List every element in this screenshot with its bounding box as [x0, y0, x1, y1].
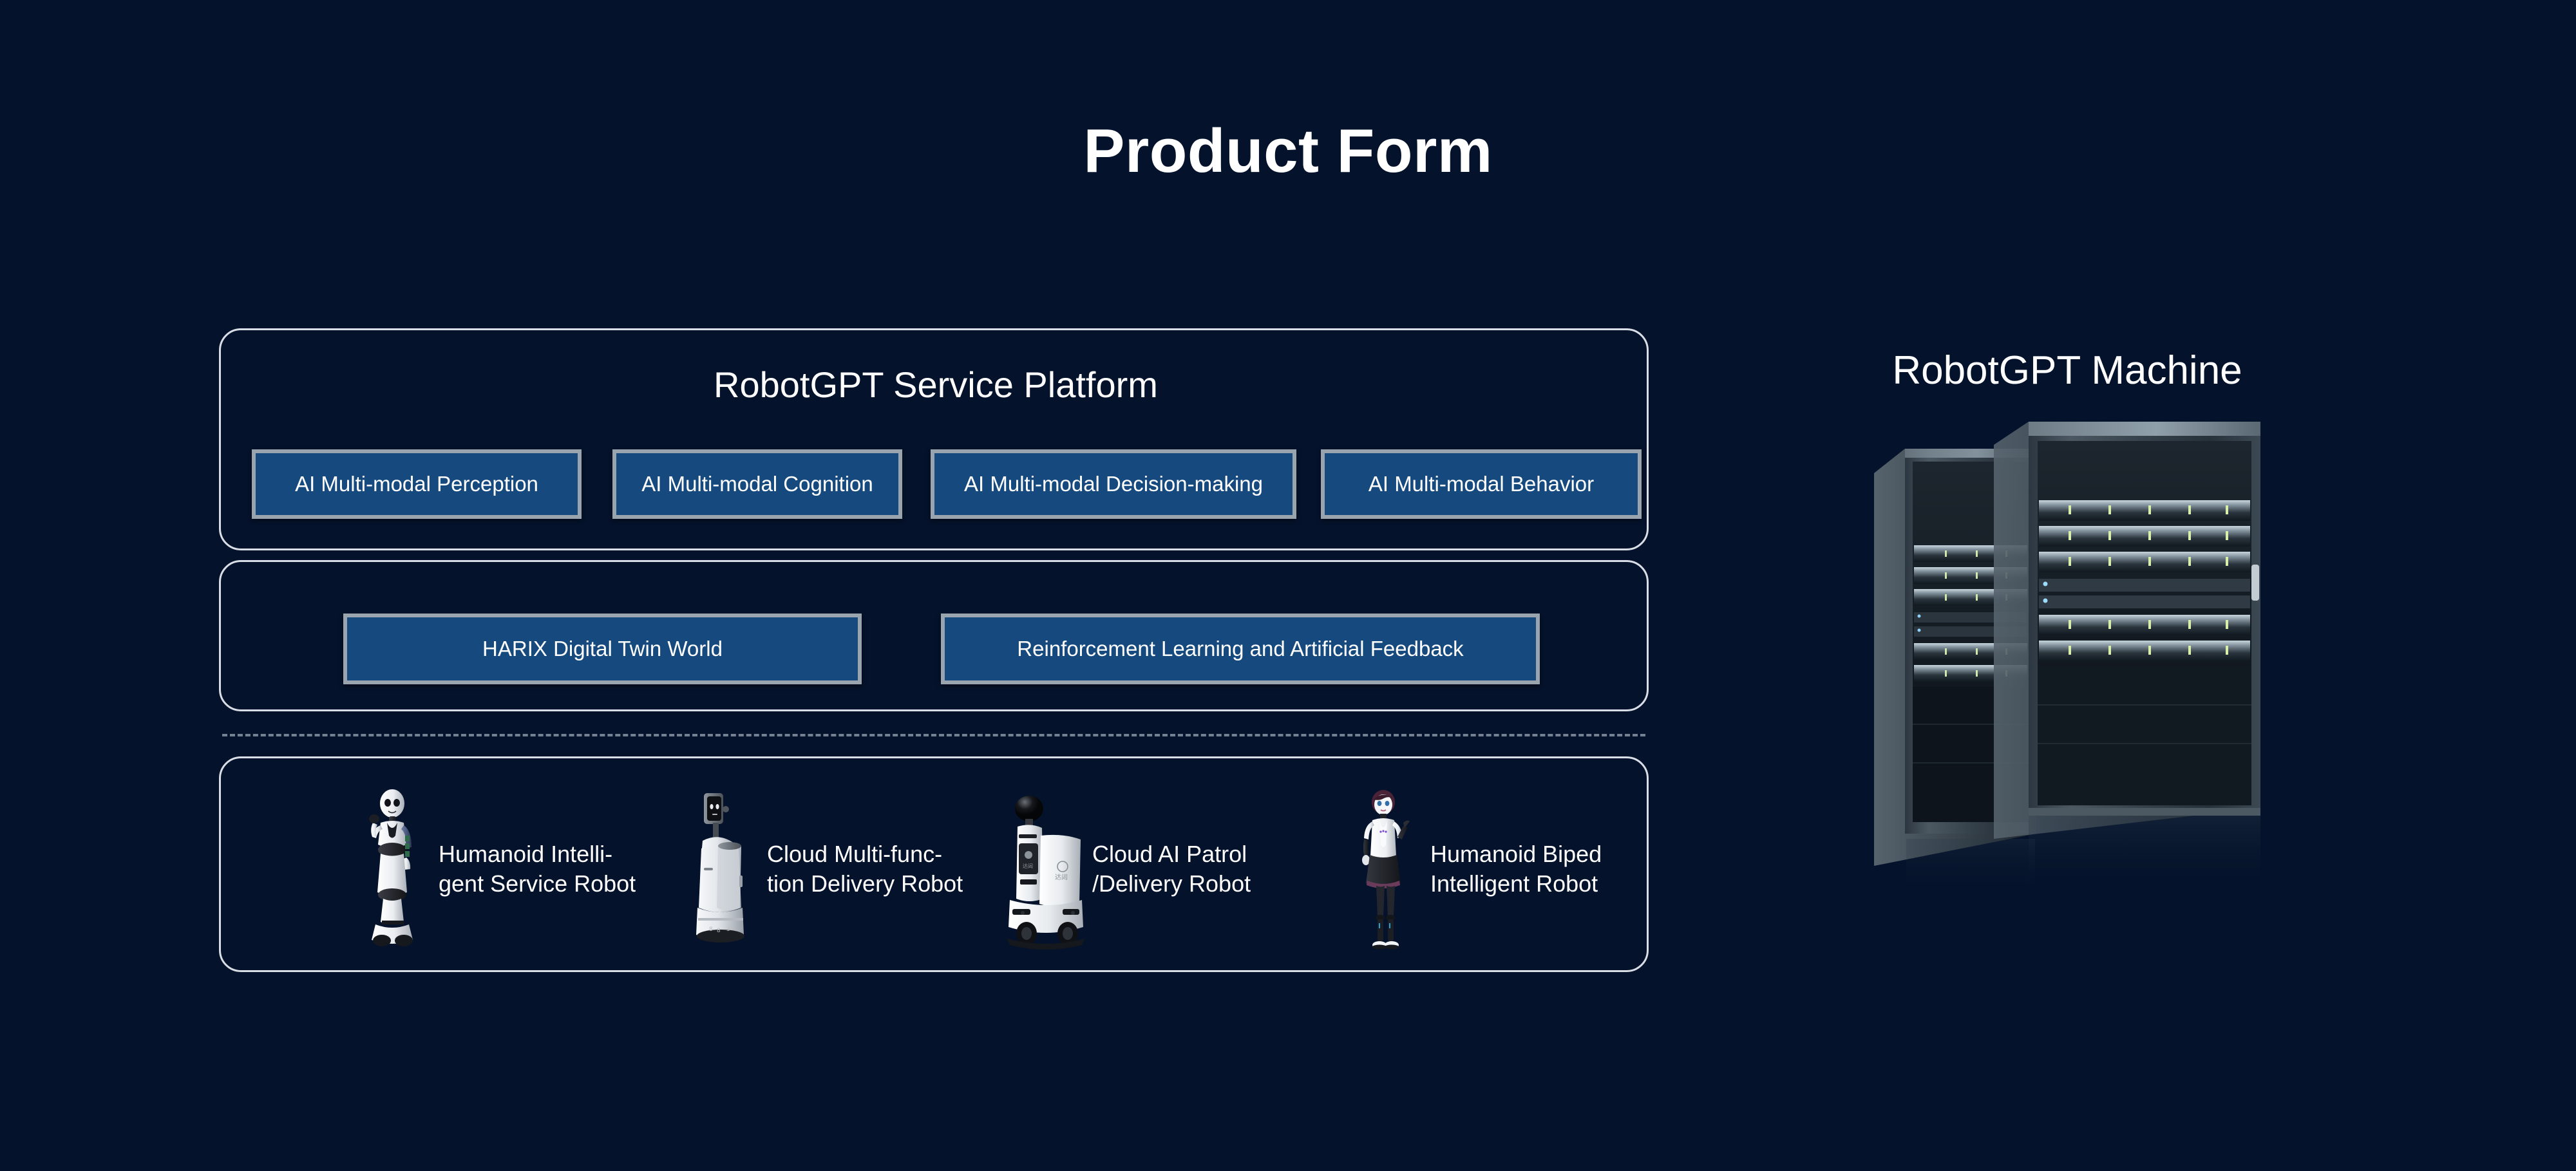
machine-title: RobotGPT Machine: [1868, 348, 2267, 393]
robot-label-cloud-patrol: Cloud AI Patrol /Delivery Robot: [1092, 839, 1251, 899]
service-platform-title: RobotGPT Service Platform: [221, 364, 1651, 406]
section-divider: [222, 734, 1645, 736]
slide-root: Product Form RobotGPT Service Platform A…: [0, 0, 2576, 1171]
server-rack-icon: [1868, 422, 2267, 1065]
svg-text:达闼: 达闼: [1055, 873, 1068, 881]
robot-label-humanoid-service: Humanoid Intelli- gent Service Robot: [439, 839, 636, 899]
chip-ai-multimodal-decision-making[interactable]: AI Multi-modal Decision-making: [931, 449, 1296, 519]
svg-text:8: 8: [717, 928, 721, 934]
page-title: Product Form: [0, 116, 2576, 187]
humanoid-biped-robot-icon: [1341, 785, 1425, 953]
left-column: RobotGPT Service Platform AI Multi-modal…: [219, 328, 1649, 972]
robot-card-cloud-patrol[interactable]: 达闼 达闼: [1003, 785, 1251, 953]
panel-harix-rlhf: HARIX Digital Twin World Reinforcement L…: [219, 560, 1649, 711]
robot-label-cloud-delivery: Cloud Multi-func- tion Delivery Robot: [767, 839, 963, 899]
chip-harix-digital-twin-world[interactable]: HARIX Digital Twin World: [343, 614, 862, 684]
svg-text:8: 8: [709, 926, 713, 933]
cloud-delivery-robot-icon: 8 8 3: [678, 785, 762, 953]
cloud-patrol-robot-icon: 达闼 达闼: [1003, 785, 1087, 953]
chip-ai-multimodal-cognition[interactable]: AI Multi-modal Cognition: [612, 449, 902, 519]
panel-service-platform: RobotGPT Service Platform AI Multi-modal…: [219, 328, 1649, 550]
chip-ai-multimodal-behavior[interactable]: AI Multi-modal Behavior: [1321, 449, 1642, 519]
robot-label-humanoid-biped: Humanoid Biped Intelligent Robot: [1430, 839, 1602, 899]
humanoid-service-robot-icon: [350, 785, 433, 953]
robot-card-humanoid-service[interactable]: Humanoid Intelli- gent Service Robot: [350, 785, 636, 953]
panel-robot-products: Humanoid Intelli- gent Service Robot: [219, 756, 1649, 972]
chip-reinforcement-learning-artificial-feedback[interactable]: Reinforcement Learning and Artificial Fe…: [941, 614, 1540, 684]
svg-text:3: 3: [726, 926, 730, 933]
right-column: RobotGPT Machine: [1868, 335, 2447, 1043]
chip-ai-multimodal-perception[interactable]: AI Multi-modal Perception: [252, 449, 582, 519]
robot-card-cloud-delivery[interactable]: 8 8 3 Cloud Multi-func- tion Delivery Ro…: [678, 785, 963, 953]
svg-text:达闼: 达闼: [1023, 863, 1033, 869]
robot-card-humanoid-biped[interactable]: Humanoid Biped Intelligent Robot: [1341, 785, 1602, 953]
